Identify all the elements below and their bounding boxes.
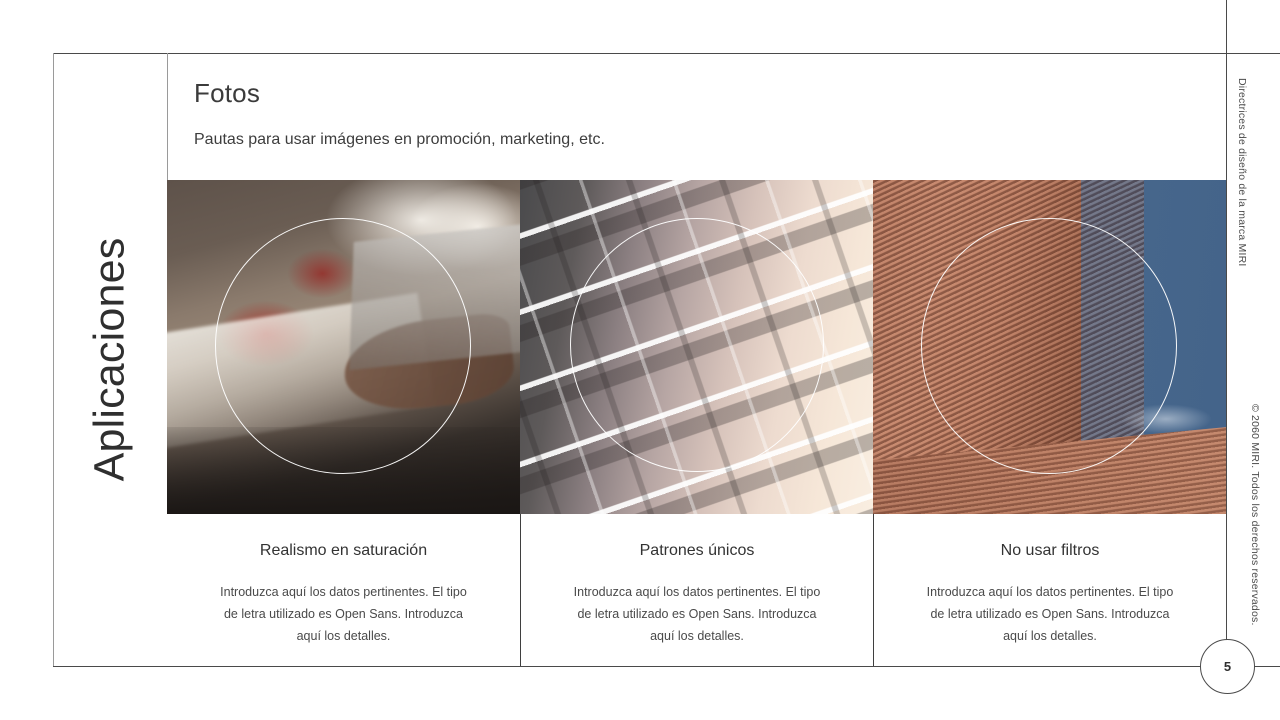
card-heading: No usar filtros	[898, 542, 1202, 560]
desk-hand-shape	[339, 312, 517, 416]
card-text-area: No usar filtros Introduzca aquí los dato…	[873, 514, 1226, 666]
card-heading: Patrones únicos	[545, 542, 849, 560]
card-body-text: Introduzca aquí los datos pertinentes. E…	[926, 582, 1174, 648]
slide-canvas: Aplicaciones Fotos Pautas para usar imág…	[0, 0, 1280, 720]
slide-header: Fotos Pautas para usar imágenes en promo…	[194, 78, 1194, 149]
frame-top-rule	[53, 53, 1280, 54]
card-image-terracotta	[873, 180, 1226, 514]
card-image-desk	[167, 180, 520, 514]
frame-right-rule	[1226, 0, 1227, 666]
card-heading: Realismo en saturación	[191, 542, 496, 560]
card-body-text: Introduzca aquí los datos pertinentes. E…	[573, 582, 821, 648]
card-image-facade	[520, 180, 873, 514]
card-text-area: Realismo en saturación Introduzca aquí l…	[167, 514, 520, 666]
page-subtitle: Pautas para usar imágenes en promoción, …	[194, 131, 1194, 149]
card-text-area: Patrones únicos Introduzca aquí los dato…	[520, 514, 873, 666]
rail-document-title: Directrices de diseño de la marca MIRI	[1236, 78, 1248, 267]
page-title: Fotos	[194, 78, 1194, 109]
frame-bottom-rule	[53, 666, 1280, 667]
section-title-area: Aplicaciones	[53, 53, 167, 666]
photo-card[interactable]: Realismo en saturación Introduzca aquí l…	[167, 180, 520, 666]
photo-terracotta-wall	[873, 180, 1226, 514]
page-number-badge: 5	[1200, 639, 1255, 694]
photo-cards-row: Realismo en saturación Introduzca aquí l…	[167, 180, 1226, 666]
photo-desk-workspace	[167, 180, 520, 514]
photo-card[interactable]: Patrones únicos Introduzca aquí los dato…	[520, 180, 873, 666]
cloud-shape	[1120, 404, 1212, 434]
desk-shadow-band	[167, 427, 520, 514]
rail-copyright-notice: © 2060 MIRI. Todos los derechos reservad…	[1249, 404, 1261, 626]
photo-card[interactable]: No usar filtros Introduzca aquí los dato…	[873, 180, 1226, 666]
page-badge-rule-right	[1253, 666, 1280, 667]
card-body-text: Introduzca aquí los datos pertinentes. E…	[220, 582, 468, 648]
section-title: Aplicaciones	[86, 238, 135, 482]
photo-balcony-facade	[520, 180, 873, 514]
page-badge-rule-left	[1150, 666, 1200, 667]
